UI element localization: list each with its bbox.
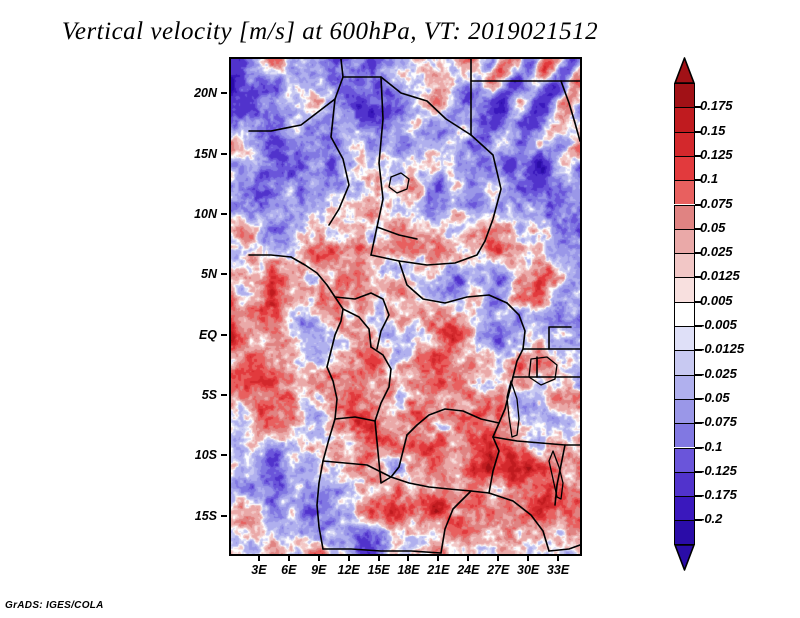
colorbar-tick-mark	[695, 252, 702, 254]
colorbar-tick-label: -0.025	[700, 366, 737, 381]
colorbar-segment	[674, 302, 695, 326]
colorbar-tick-mark	[695, 179, 702, 181]
lon-tick-mark	[437, 555, 439, 561]
colorbar-bottom-arrow	[674, 545, 695, 571]
map-plot-area[interactable]	[229, 57, 582, 556]
colorbar-tick-mark	[695, 325, 702, 327]
lon-tick-mark	[378, 555, 380, 561]
colorbar-segment	[674, 132, 695, 156]
colorbar-tick-label: -0.005	[700, 317, 737, 332]
colorbar-tick-label: -0.1	[700, 439, 722, 454]
lat-tick-label: 10S	[163, 449, 217, 461]
colorbar-segment	[674, 520, 695, 544]
colorbar-tick-mark	[695, 349, 702, 351]
colorbar-tick-mark	[695, 422, 702, 424]
colorbar-segment	[674, 156, 695, 180]
lon-tick-mark	[557, 555, 559, 561]
colorbar-tick-mark	[695, 228, 702, 230]
colorbar-segment	[674, 253, 695, 277]
colorbar-segment	[674, 277, 695, 301]
colorbar-tick-label: -0.05	[700, 390, 730, 405]
colorbar-segment	[674, 423, 695, 447]
lon-tick-mark	[407, 555, 409, 561]
lat-tick-mark	[221, 334, 227, 336]
lon-tick-mark	[467, 555, 469, 561]
colorbar-segment	[674, 205, 695, 229]
colorbar-tick-label: -0.2	[700, 511, 722, 526]
lat-tick-label: 10N	[163, 208, 217, 220]
colorbar-segment	[674, 399, 695, 423]
colorbar-tick-mark	[695, 471, 702, 473]
country-borders-overlay	[231, 59, 580, 554]
colorbar-tick-label: 0.1	[700, 171, 718, 186]
lon-tick-mark	[258, 555, 260, 561]
footer-credit: GrADS: IGES/COLA	[5, 600, 104, 611]
colorbar-tick-label: 0.005	[700, 293, 733, 308]
lon-tick-mark	[497, 555, 499, 561]
colorbar-segment	[674, 496, 695, 520]
lon-tick-mark	[348, 555, 350, 561]
lat-tick-label: 20N	[163, 87, 217, 99]
colorbar-tick-mark	[695, 495, 702, 497]
lon-tick-mark	[318, 555, 320, 561]
page-title: Vertical velocity [m/s] at 600hPa, VT: 2…	[0, 18, 660, 46]
colorbar-segment	[674, 448, 695, 472]
colorbar-top-arrow	[674, 57, 695, 83]
lat-tick-label: EQ	[163, 329, 217, 341]
lat-tick-label: 15S	[163, 510, 217, 522]
colorbar-tick-label: -0.075	[700, 414, 737, 429]
colorbar-tick-label: -0.0125	[700, 341, 744, 356]
colorbar-tick-mark	[695, 106, 702, 108]
lat-tick-mark	[221, 515, 227, 517]
colorbar-segment	[674, 180, 695, 204]
colorbar-segment	[674, 472, 695, 496]
lon-tick-mark	[527, 555, 529, 561]
colorbar-segment	[674, 375, 695, 399]
lat-tick-mark	[221, 92, 227, 94]
lat-tick-mark	[221, 394, 227, 396]
colorbar-tick-mark	[695, 519, 702, 521]
colorbar-tick-label: 0.175	[700, 98, 733, 113]
colorbar-tick-mark	[695, 155, 702, 157]
lat-tick-mark	[221, 153, 227, 155]
lat-tick-mark	[221, 213, 227, 215]
colorbar-tick-mark	[695, 276, 702, 278]
colorbar-tick-label: 0.025	[700, 244, 733, 259]
colorbar-tick-label: 0.0125	[700, 268, 740, 283]
colorbar-segment	[674, 350, 695, 374]
colorbar-tick-label: 0.075	[700, 196, 733, 211]
colorbar-tick-label: 0.125	[700, 147, 733, 162]
colorbar-segment	[674, 326, 695, 350]
colorbar[interactable]	[674, 57, 695, 562]
colorbar-tick-label: -0.125	[700, 463, 737, 478]
lat-tick-label: 5N	[163, 268, 217, 280]
colorbar-tick-mark	[695, 398, 702, 400]
colorbar-tick-label: -0.175	[700, 487, 737, 502]
lat-tick-label: 5S	[163, 389, 217, 401]
lat-tick-label: 15N	[163, 148, 217, 160]
lon-tick-label: 33E	[538, 563, 578, 577]
colorbar-tick-label: 0.05	[700, 220, 725, 235]
lat-tick-mark	[221, 273, 227, 275]
colorbar-tick-mark	[695, 447, 702, 449]
colorbar-tick-label: 0.15	[700, 123, 725, 138]
colorbar-tick-mark	[695, 374, 702, 376]
colorbar-tick-mark	[695, 301, 702, 303]
lon-tick-mark	[288, 555, 290, 561]
lat-tick-mark	[221, 454, 227, 456]
grads-plot-window: Vertical velocity [m/s] at 600hPa, VT: 2…	[0, 0, 800, 618]
colorbar-segment	[674, 83, 695, 107]
colorbar-tick-mark	[695, 131, 702, 133]
colorbar-segment	[674, 107, 695, 131]
colorbar-tick-mark	[695, 204, 702, 206]
colorbar-segment	[674, 229, 695, 253]
